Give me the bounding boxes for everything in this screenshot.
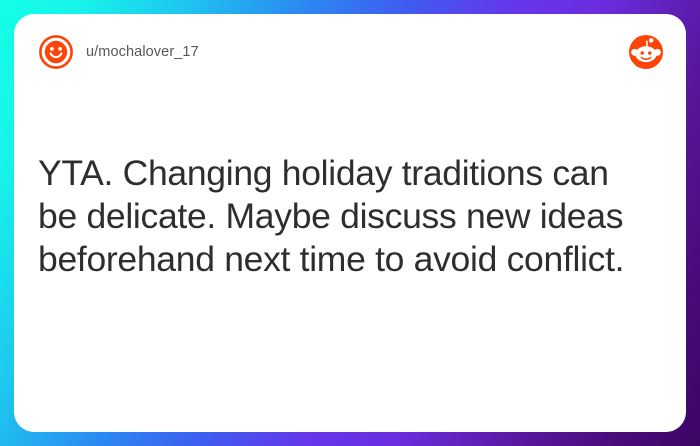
comment-text: YTA. Changing holiday traditions can be … (38, 152, 656, 281)
screenshot-root: u/mochalover_17 YTA. Chang (0, 0, 700, 446)
card-header: u/mochalover_17 (14, 14, 686, 90)
reddit-comment-card: u/mochalover_17 YTA. Chang (14, 14, 686, 432)
reddit-snoo-logo-icon[interactable] (628, 34, 664, 70)
user-identity-block[interactable]: u/mochalover_17 (38, 34, 199, 70)
comment-body: YTA. Changing holiday traditions can be … (38, 152, 656, 281)
username-label: u/mochalover_17 (86, 45, 199, 60)
smiley-face-avatar-icon[interactable] (38, 34, 74, 70)
